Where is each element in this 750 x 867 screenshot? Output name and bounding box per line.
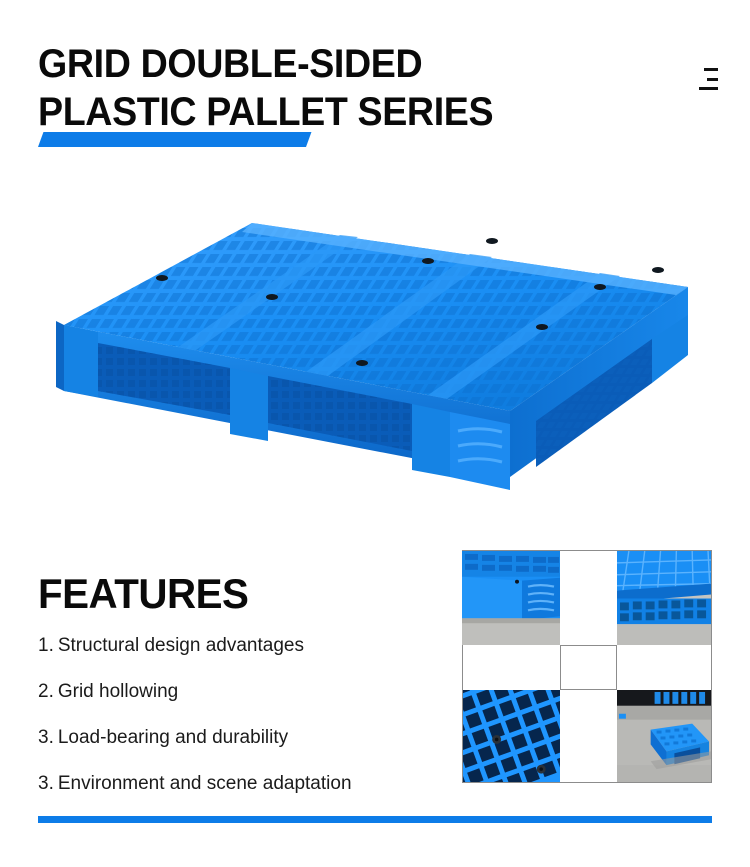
features-section: FEATURES 1.Structural design advantages … — [38, 570, 448, 796]
photo-cell-bottom-right[interactable] — [617, 690, 712, 783]
menu-bar-middle — [707, 78, 718, 81]
list-item-number: 1. — [38, 635, 54, 656]
features-list: 1.Structural design advantages 2.Grid ho… — [38, 634, 448, 796]
list-item: 3.Environment and scene adaptation — [38, 772, 448, 796]
hamburger-menu-icon[interactable] — [690, 68, 718, 90]
page-title: GRID DOUBLE-SIDED PLASTIC PALLET SERIES — [38, 40, 598, 136]
list-item: 3.Load-bearing and durability — [38, 726, 448, 750]
list-item-label: Environment and scene adaptation — [58, 773, 352, 794]
menu-bar-bottom — [699, 87, 718, 90]
photo-cell-bottom-left[interactable] — [462, 690, 560, 783]
product-photo-grid — [462, 550, 712, 783]
hero-product-image — [40, 215, 712, 515]
photo-pallet-deck-edge — [617, 551, 711, 645]
title-line-2-wrap: PLASTIC PALLET SERIES — [38, 88, 598, 136]
list-item-number: 3. — [38, 773, 54, 794]
photo-grid-hollowing-macro — [463, 690, 560, 782]
footer-accent-rule — [38, 816, 712, 823]
photo-cell-top-middle — [560, 550, 617, 645]
product-page: GRID DOUBLE-SIDED PLASTIC PALLET SERIES — [0, 0, 750, 867]
photo-cell-top-left[interactable] — [462, 550, 560, 645]
list-item-label: Grid hollowing — [58, 681, 178, 702]
list-item-label: Structural design advantages — [58, 635, 304, 656]
list-item-number: 2. — [38, 681, 54, 702]
menu-bar-top — [704, 68, 718, 71]
list-item: 2.Grid hollowing — [38, 680, 448, 704]
pallet-left-edge — [56, 321, 64, 391]
pallet-illustration — [40, 215, 712, 515]
photo-cell-bottom-middle — [560, 690, 617, 783]
photo-cell-middle-left — [462, 645, 560, 690]
list-item-number: 3. — [38, 727, 54, 748]
photo-cell-middle-center — [560, 645, 617, 690]
title-line-1-wrap: GRID DOUBLE-SIDED — [38, 40, 598, 88]
photo-pallet-corner — [462, 551, 560, 645]
title-line-1: GRID DOUBLE-SIDED — [38, 40, 422, 88]
list-item-label: Load-bearing and durability — [58, 727, 288, 748]
photo-pallet-on-floor — [617, 690, 711, 782]
list-item: 1.Structural design advantages — [38, 634, 448, 658]
title-line-2: PLASTIC PALLET SERIES — [38, 88, 493, 136]
photo-cell-middle-right — [617, 645, 712, 690]
features-heading: FEATURES — [38, 570, 432, 618]
photo-cell-top-right[interactable] — [617, 550, 712, 645]
page-header: GRID DOUBLE-SIDED PLASTIC PALLET SERIES — [0, 0, 750, 180]
